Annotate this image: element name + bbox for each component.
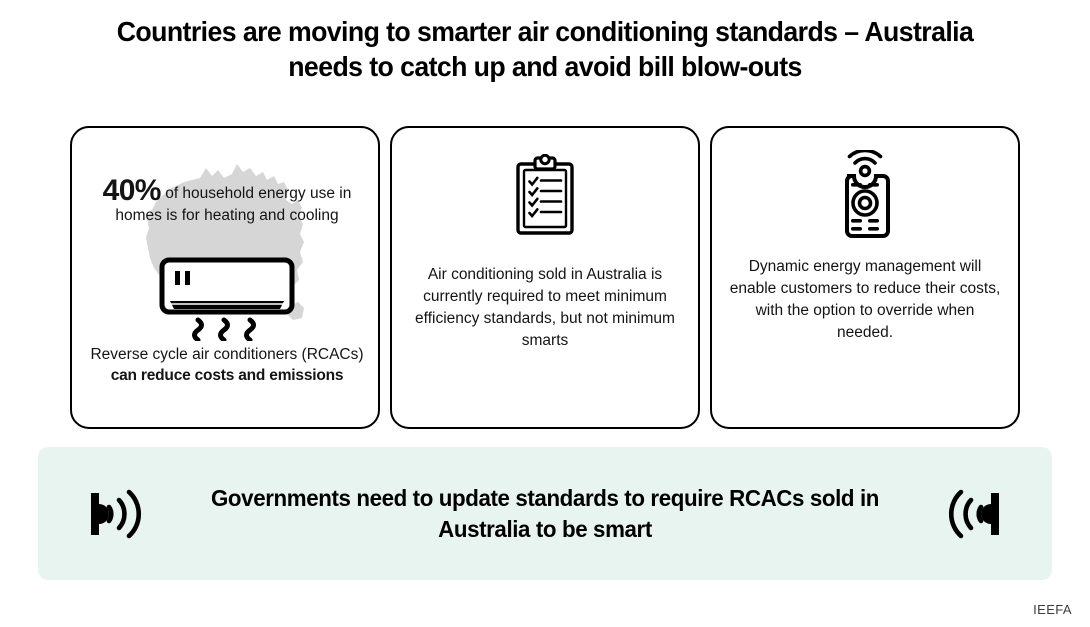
page-title: Countries are moving to smarter air cond… xyxy=(79,14,1010,84)
remote-icon-container xyxy=(712,150,1018,240)
banner-text: Governments need to update standards to … xyxy=(164,483,926,545)
air-conditioner-icon xyxy=(158,256,296,341)
caption-regular: Reverse cycle air conditioners (RCACs) xyxy=(90,346,363,363)
stat-value: 40% xyxy=(103,174,161,207)
stat-line: 40% of household energy use in homes is … xyxy=(72,180,380,227)
card-body-text: Dynamic energy management will enable cu… xyxy=(712,256,1018,344)
signal-broadcast-right-icon xyxy=(82,479,152,549)
clipboard-icon-container xyxy=(392,154,698,236)
card-standards: Air conditioning sold in Australia is cu… xyxy=(390,126,700,429)
signal-broadcast-left-icon xyxy=(938,479,1008,549)
clipboard-checklist-icon xyxy=(515,154,575,236)
card-caption: Reverse cycle air conditioners (RCACs) c… xyxy=(72,344,380,386)
card-row: 40% of household energy use in homes is … xyxy=(70,126,1020,429)
card-body-text: Air conditioning sold in Australia is cu… xyxy=(392,264,698,352)
caption-bold: can reduce costs and emissions xyxy=(111,367,344,384)
call-to-action-banner: Governments need to update standards to … xyxy=(38,447,1052,580)
ieefa-logo: IEEFA xyxy=(1033,602,1072,617)
smart-remote-icon xyxy=(837,150,893,240)
card-energy-use: 40% of household energy use in homes is … xyxy=(70,126,380,429)
card-dynamic-management: Dynamic energy management will enable cu… xyxy=(710,126,1020,429)
